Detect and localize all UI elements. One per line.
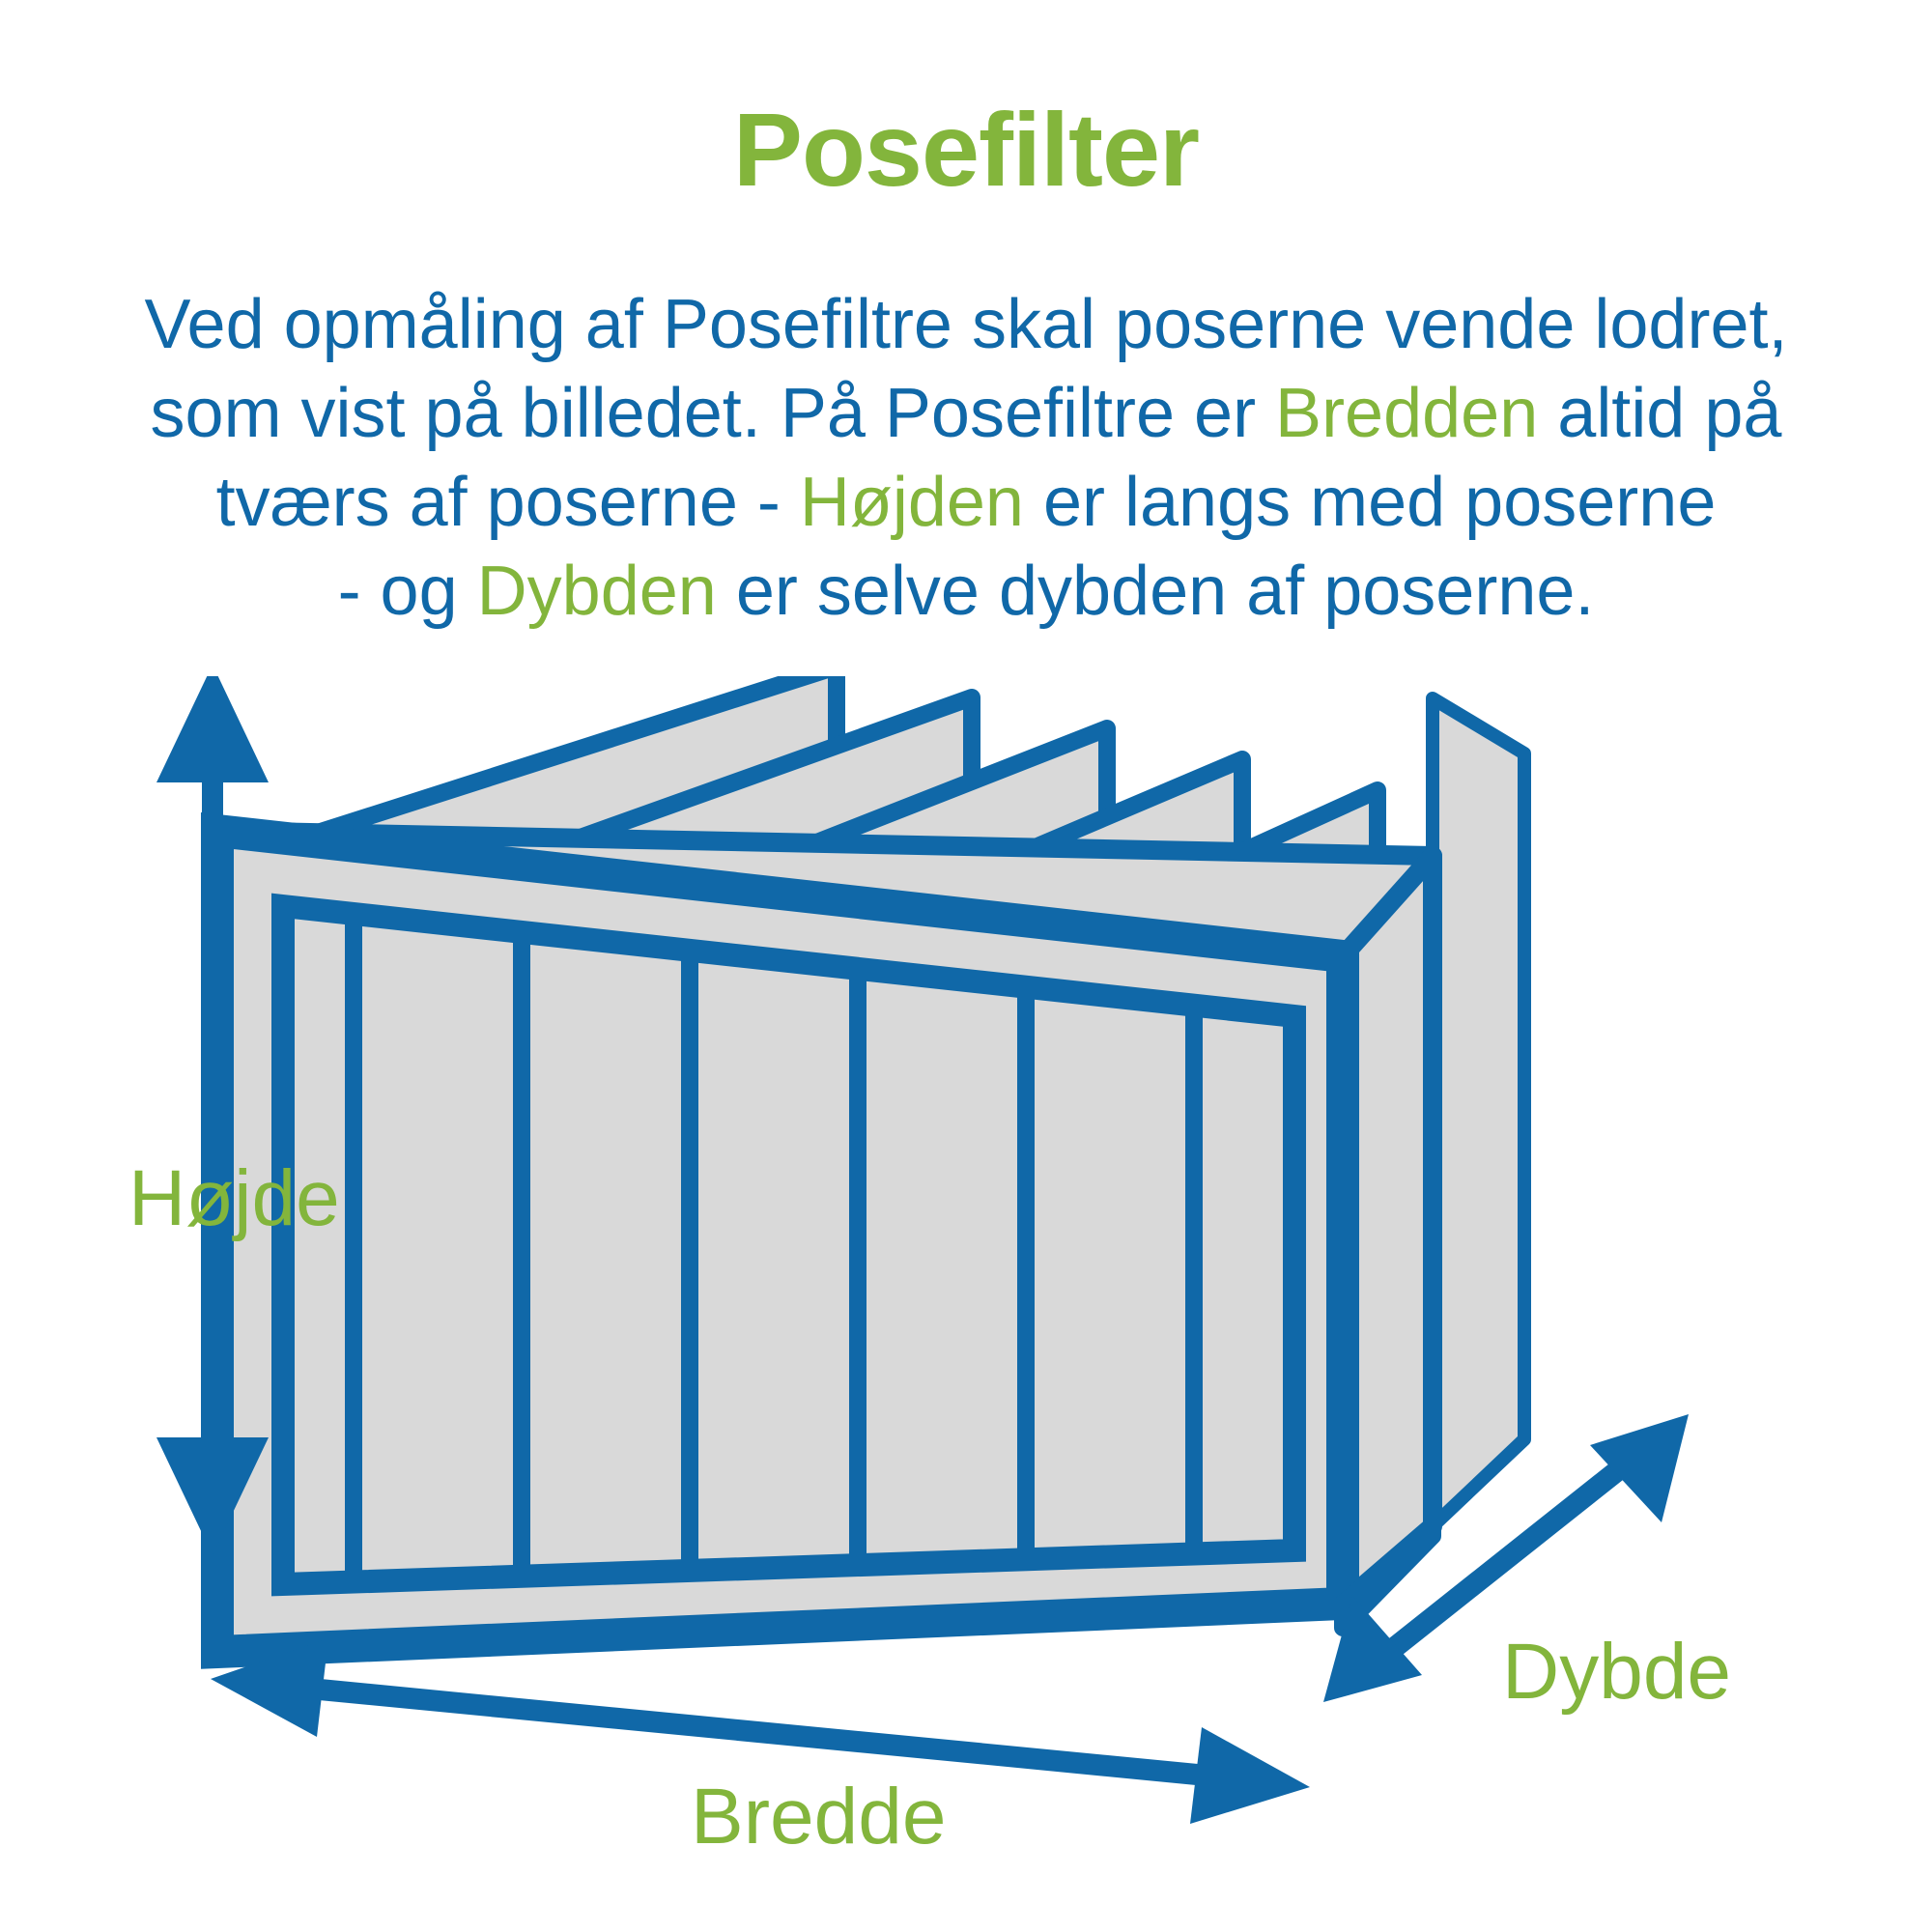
inner-frame <box>283 906 1294 1584</box>
intro-line-4-part-b: er selve dybden af poserne. <box>717 553 1595 630</box>
highlight-dybden: Dybden <box>477 553 717 630</box>
intro-line-1: Ved opmåling af Posefiltre skal poserne … <box>144 286 1787 363</box>
page-title: Posefilter <box>0 93 1932 208</box>
highlight-bredden: Bredden <box>1275 375 1538 452</box>
intro-line-2-part-a: som vist på billedet. På Posefiltre er <box>151 375 1276 452</box>
intro-line-2-part-b: altid på <box>1538 375 1781 452</box>
label-height: Højde <box>128 1159 340 1238</box>
filter-body <box>217 676 1524 1652</box>
intro-line-3-part-a: tværs af poserne - <box>216 464 800 541</box>
intro-line-3-part-b: er langs med poserne <box>1024 464 1716 541</box>
label-width: Bredde <box>691 1777 946 1857</box>
highlight-hojden: Højden <box>800 464 1024 541</box>
right-side-panel <box>1433 698 1524 1526</box>
bag-filter-diagram <box>0 676 1932 1932</box>
intro-line-4-part-a: - og <box>338 553 477 630</box>
label-depth: Dybde <box>1502 1633 1731 1712</box>
page-root: Posefilter Ved opmåling af Posefiltre sk… <box>0 0 1932 1932</box>
intro-paragraph: Ved opmåling af Posefiltre skal poserne … <box>68 280 1864 637</box>
